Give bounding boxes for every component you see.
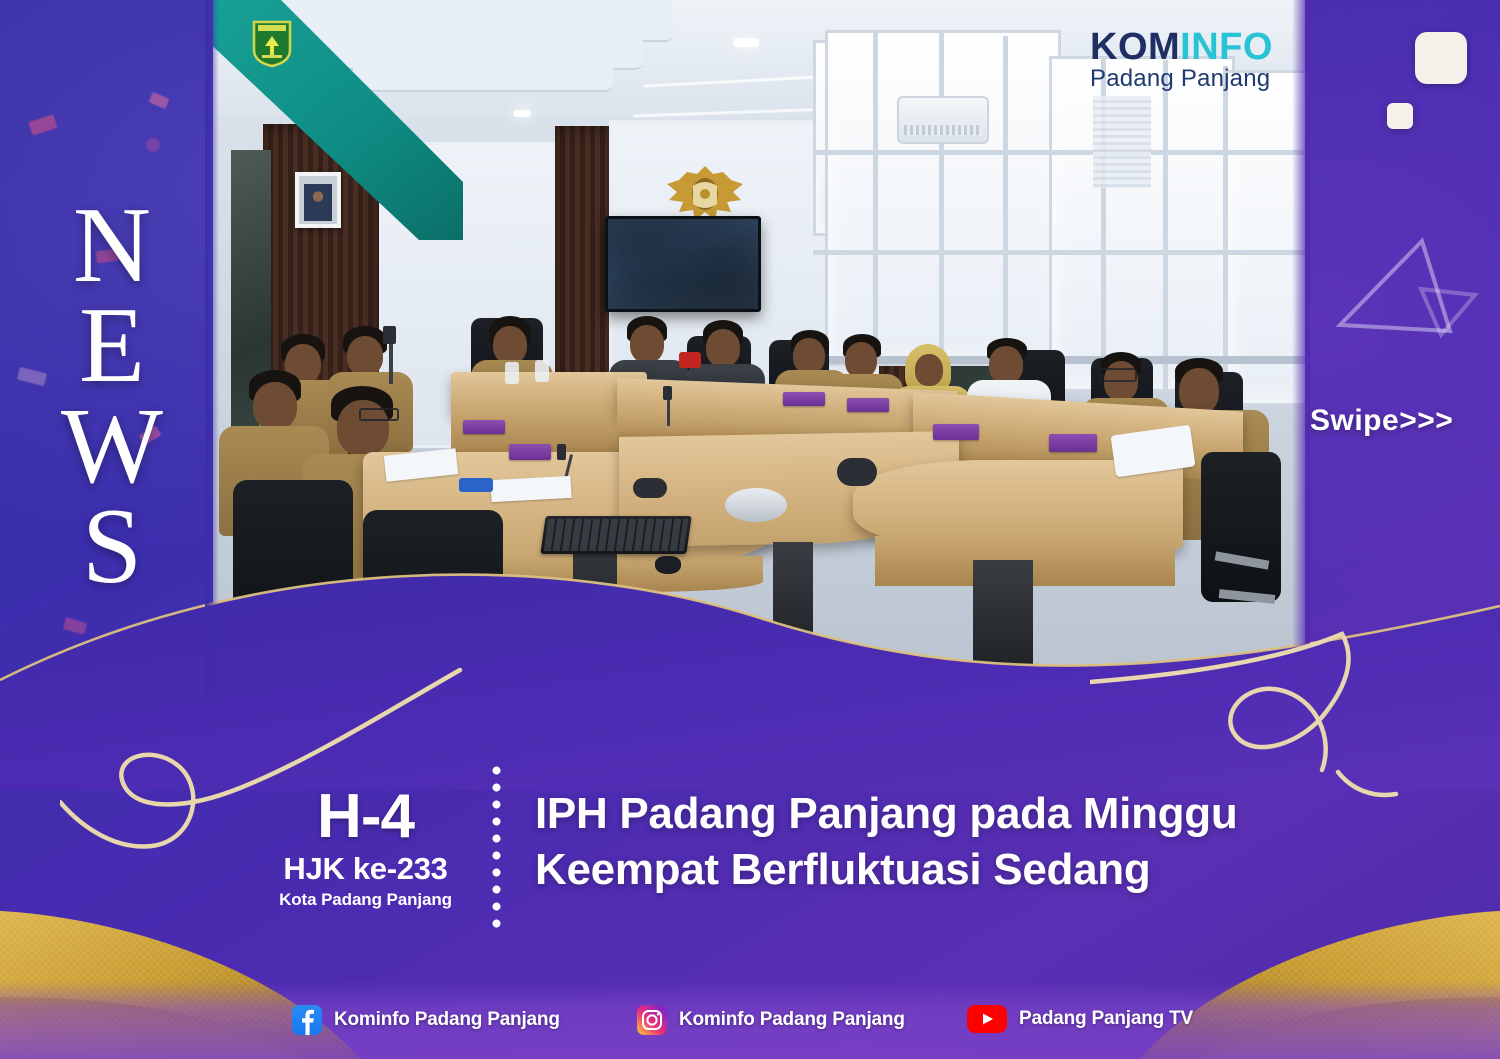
window-mullion bbox=[1003, 36, 1008, 366]
social-link-facebook[interactable]: Kominfo Padang Panjang bbox=[292, 1005, 560, 1035]
head bbox=[706, 329, 740, 367]
city-crest-icon bbox=[252, 20, 292, 68]
name-plate bbox=[1049, 434, 1097, 452]
name-plate bbox=[509, 444, 551, 460]
table-leg bbox=[773, 542, 813, 652]
news-letter: W bbox=[52, 397, 172, 497]
head bbox=[1179, 368, 1219, 414]
table-leg bbox=[973, 560, 1033, 670]
ac-vent bbox=[904, 125, 981, 135]
dotted-divider bbox=[492, 762, 501, 934]
confetti-bit bbox=[149, 92, 170, 109]
microphone-arm bbox=[667, 396, 670, 426]
confetti-bit bbox=[28, 114, 57, 135]
eyeglasses bbox=[359, 408, 399, 421]
microphone bbox=[383, 326, 396, 344]
microphone-arm bbox=[389, 338, 393, 384]
video-camera bbox=[837, 458, 877, 486]
window-mullion bbox=[939, 30, 944, 360]
name-plate bbox=[783, 392, 825, 406]
air-conditioner bbox=[897, 96, 989, 144]
youtube-icon bbox=[967, 1005, 1007, 1033]
social-link-instagram[interactable]: Kominfo Padang Panjang bbox=[637, 1005, 905, 1035]
photo-left-fade bbox=[205, 0, 219, 700]
decor-square-large bbox=[1415, 32, 1467, 84]
countdown-place: Kota Padang Panjang bbox=[258, 890, 473, 910]
ceiling-light bbox=[733, 38, 759, 47]
swipe-cta[interactable]: Swipe>>> bbox=[1310, 404, 1453, 438]
microphone bbox=[663, 386, 672, 400]
decor-square-small bbox=[1387, 103, 1413, 129]
instagram-label: Kominfo Padang Panjang bbox=[679, 1009, 905, 1031]
window-transom bbox=[813, 250, 1305, 255]
countdown-event: HJK ke-233 bbox=[258, 851, 473, 887]
news-vertical-label: N E W S bbox=[52, 196, 172, 598]
wall-tv-screen bbox=[605, 216, 761, 312]
window-blind bbox=[1093, 96, 1151, 188]
facebook-label: Kominfo Padang Panjang bbox=[334, 1009, 560, 1031]
decor-triangle-small bbox=[1415, 265, 1495, 345]
window-mullion bbox=[1223, 66, 1228, 400]
framed-portrait bbox=[295, 172, 341, 228]
keyboard bbox=[540, 516, 691, 554]
facebook-icon bbox=[292, 1005, 322, 1035]
confetti-bit bbox=[1150, 700, 1180, 716]
chair-leg bbox=[273, 620, 283, 680]
folder bbox=[459, 478, 493, 492]
news-letter: N bbox=[52, 196, 172, 296]
decor-triangle-large bbox=[1330, 235, 1470, 345]
portrait-figure bbox=[304, 184, 333, 221]
head bbox=[845, 342, 877, 378]
headline-text: IPH Padang Panjang pada Minggu Keempat B… bbox=[535, 786, 1295, 899]
confetti-bit bbox=[1378, 637, 1401, 656]
chair-leg bbox=[475, 624, 485, 670]
social-link-youtube[interactable]: Padang Panjang TV bbox=[967, 1005, 1193, 1033]
youtube-label: Padang Panjang TV bbox=[1019, 1008, 1193, 1030]
head bbox=[793, 338, 825, 374]
countdown-badge: H-4 HJK ke-233 Kota Padang Panjang bbox=[258, 788, 473, 910]
document bbox=[490, 476, 571, 502]
window-transom bbox=[813, 150, 1305, 155]
news-photo bbox=[213, 0, 1305, 700]
kominfo-subtitle: Padang Panjang bbox=[1090, 67, 1273, 91]
countdown-day: H-4 bbox=[258, 788, 473, 847]
head bbox=[347, 336, 383, 376]
head bbox=[989, 346, 1023, 384]
eyeglasses bbox=[1099, 368, 1137, 382]
poster-canvas: KOMINFO Padang Panjang N E W S Swipe>>> … bbox=[0, 0, 1500, 1059]
head bbox=[915, 354, 943, 386]
ceiling-light bbox=[513, 110, 531, 117]
chair-leg bbox=[421, 648, 433, 700]
news-letter: E bbox=[52, 296, 172, 396]
name-plate bbox=[933, 424, 979, 440]
computer-mouse bbox=[655, 556, 681, 574]
drinking-glass bbox=[505, 362, 519, 384]
conference-speakerphone bbox=[725, 488, 787, 522]
name-plate bbox=[463, 420, 505, 434]
social-links: Kominfo Padang Panjang Kominfo Padang Pa… bbox=[0, 1005, 1500, 1045]
head bbox=[493, 326, 527, 364]
instagram-icon bbox=[637, 1005, 667, 1035]
keyboard-keys bbox=[544, 519, 688, 551]
ceiling-slab bbox=[353, 62, 613, 92]
kominfo-kom: KOM bbox=[1090, 26, 1180, 68]
kominfo-wordmark: KOMINFO bbox=[1090, 28, 1273, 66]
microphone bbox=[557, 444, 566, 460]
confetti-bit bbox=[63, 617, 87, 635]
office-chair bbox=[1201, 452, 1281, 602]
head bbox=[253, 382, 297, 430]
desk-item bbox=[679, 352, 701, 368]
confetti-bit bbox=[299, 758, 337, 780]
name-plate bbox=[847, 398, 889, 412]
head bbox=[630, 325, 664, 363]
confetti-bit bbox=[146, 138, 160, 152]
window-mullion bbox=[873, 30, 878, 360]
news-letter: S bbox=[52, 497, 172, 597]
confetti-bit bbox=[17, 367, 47, 386]
kominfo-logo: KOMINFO Padang Panjang bbox=[1090, 28, 1273, 91]
video-camera bbox=[633, 478, 667, 498]
drinking-glass bbox=[535, 360, 549, 382]
window-mullion bbox=[1163, 60, 1168, 390]
office-chair bbox=[233, 480, 353, 640]
kominfo-info: INFO bbox=[1180, 26, 1273, 68]
confetti-bit bbox=[232, 712, 262, 728]
photo-right-fade bbox=[1292, 0, 1310, 700]
